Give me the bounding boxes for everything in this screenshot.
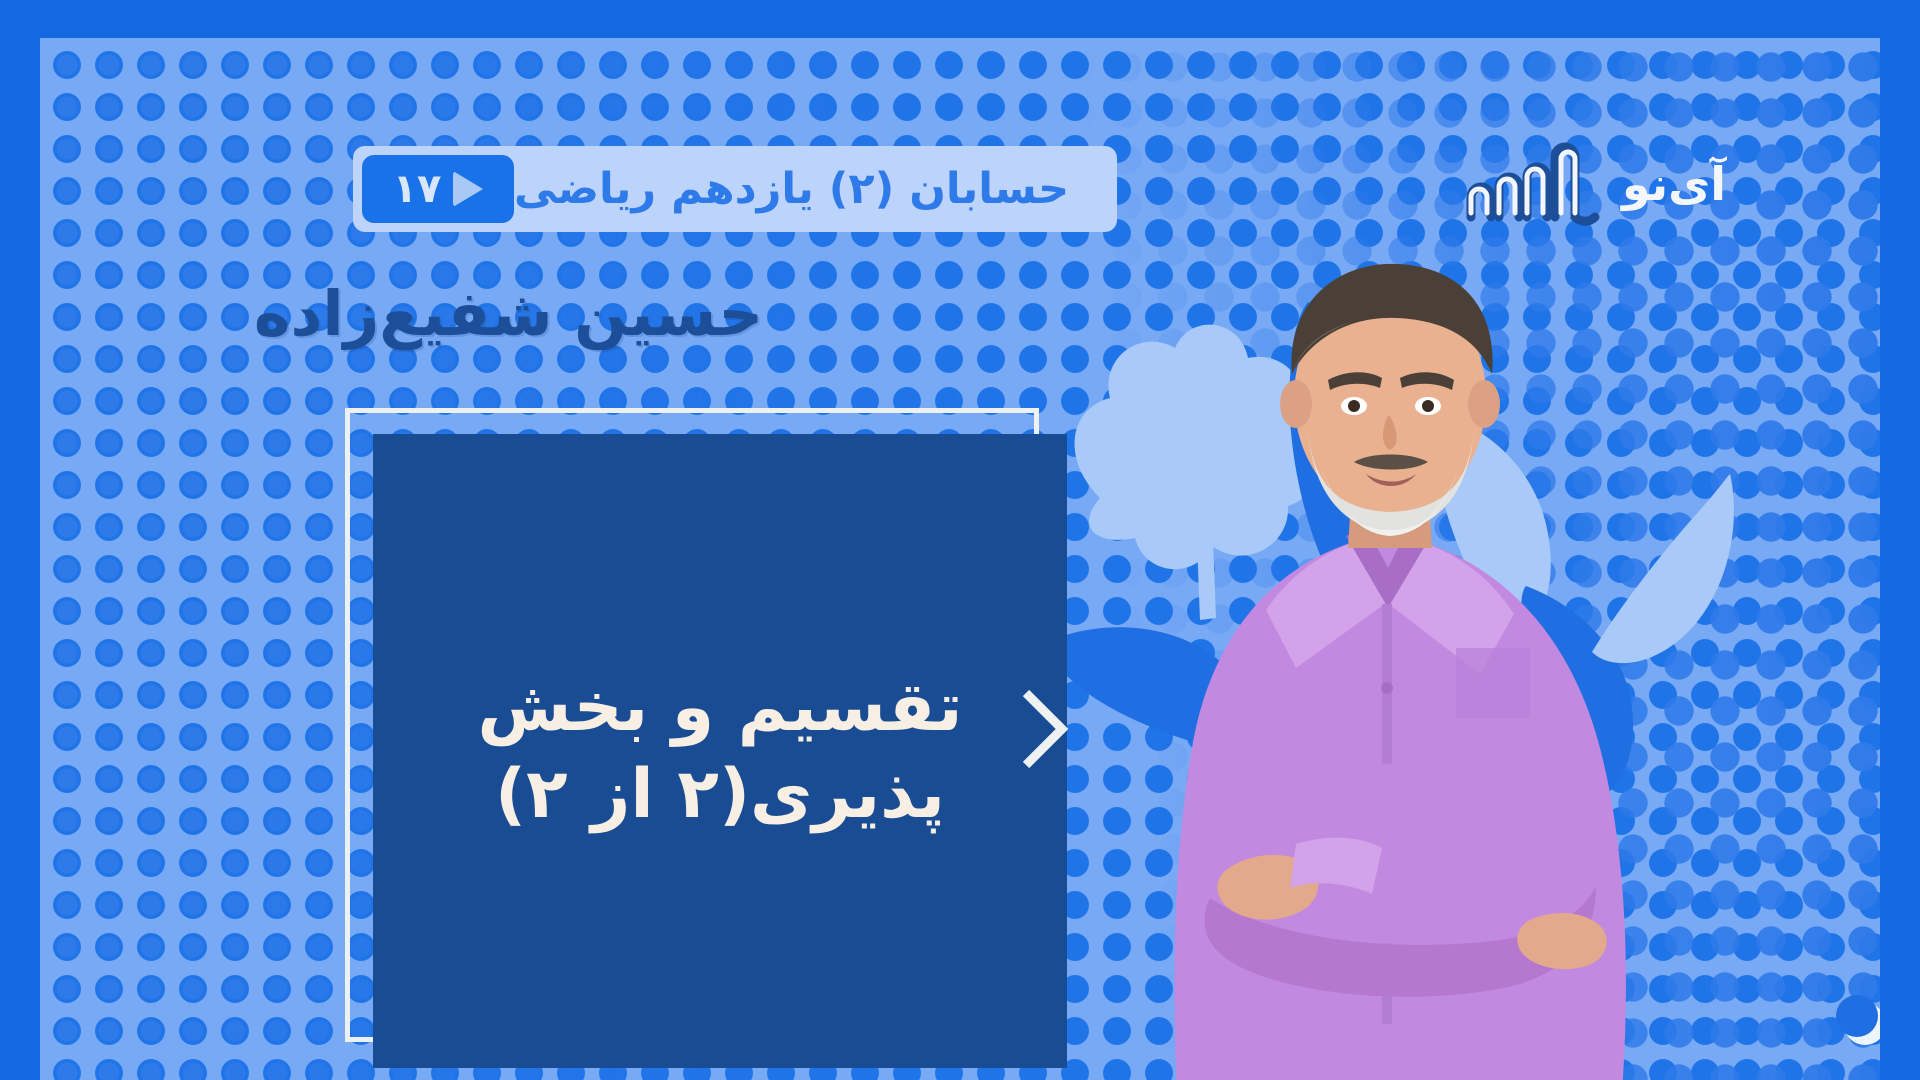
crescent-dot-icon [1835,994,1880,1046]
thumbnail-canvas: ۱۷ حسابان (۲) یازدهم ریاضی حسین شفیع‌زاد… [0,0,1920,1080]
episode-chip[interactable]: ۱۷ [362,155,514,223]
course-label: حسابان (۲) یازدهم ریاضی [514,168,1091,211]
episode-number: ۱۷ [393,169,442,209]
lesson-title-line-1: تقسیم و بخش [477,664,962,751]
play-triangle-icon[interactable] [453,171,483,207]
outer-frame: ۱۷ حسابان (۲) یازدهم ریاضی حسین شفیع‌زاد… [0,0,1920,1080]
instructor-name: حسین شفیع‌زاده [254,283,763,345]
lesson-title: تقسیم و بخش پذیری(۲ از ۲) [443,664,996,838]
brand-logo[interactable]: آی‌نو [1458,138,1768,230]
instructor-portrait-photo [1060,248,1700,1080]
brand-logo-word: آی‌نو [1622,161,1726,207]
chevron-right-icon [1018,687,1070,771]
course-pill[interactable]: ۱۷ حسابان (۲) یازدهم ریاضی [353,146,1117,232]
lesson-title-line-2: پذیری(۲ از ۲) [477,751,962,838]
title-box: تقسیم و بخش پذیری(۲ از ۲) [373,434,1067,1068]
ino-wave-mark-icon [1458,141,1608,227]
lesson-title-frame: تقسیم و بخش پذیری(۲ از ۲) [345,408,1085,1078]
inner-canvas: ۱۷ حسابان (۲) یازدهم ریاضی حسین شفیع‌زاد… [40,38,1880,1080]
